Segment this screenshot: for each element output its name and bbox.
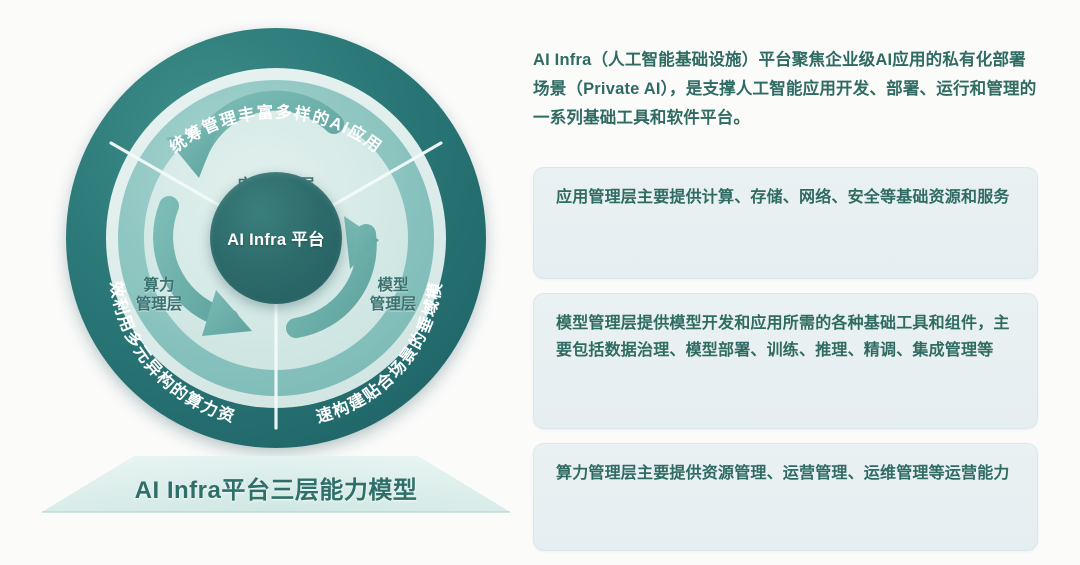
intro-paragraph: AI Infra（人工智能基础设施）平台聚焦企业级AI应用的私有化部署场景（Pr… — [533, 46, 1038, 133]
layer-label-model-line1: 模型 — [338, 276, 448, 295]
layer-label-compute-line2: 管理层 — [104, 295, 214, 314]
platform-title: AI Infra平台三层能力模型 — [42, 470, 510, 505]
model-layer-card-text: 模型管理层提供模型开发和应用所需的各种基础工具和组件，主要包括数据治理、模型部署… — [556, 310, 1017, 365]
three-layer-capability-diagram: 统筹管理丰富多样的AI应用 高效利用多元异构的算力资源 快速构建贴合场景的垂域模… — [48, 18, 513, 533]
layer-label-compute-line1: 算力 — [104, 276, 214, 295]
layer-label-compute: 算力 管理层 — [104, 276, 214, 315]
infographic-stage: 统筹管理丰富多样的AI应用 高效利用多元异构的算力资源 快速构建贴合场景的垂域模… — [0, 0, 1080, 551]
core-label: AI Infra 平台 — [227, 226, 325, 250]
platform-base: AI Infra平台三层能力模型 — [42, 448, 510, 526]
ring-text-top: 统筹管理丰富多样的AI应用 — [165, 101, 385, 156]
layer-label-model: 模型 管理层 — [338, 276, 448, 315]
compute-layer-card: 算力管理层主要提供资源管理、运营管理、运维管理等运营能力 — [533, 443, 1038, 551]
layer-label-model-line2: 管理层 — [338, 295, 448, 314]
core-circle: AI Infra 平台 — [210, 172, 342, 304]
concentric-ring-group: 统筹管理丰富多样的AI应用 高效利用多元异构的算力资源 快速构建贴合场景的垂域模… — [66, 28, 486, 448]
app-layer-card-text: 应用管理层主要提供计算、存储、网络、安全等基础资源和服务 — [556, 184, 1017, 212]
model-layer-card: 模型管理层提供模型开发和应用所需的各种基础工具和组件，主要包括数据治理、模型部署… — [533, 293, 1038, 429]
compute-layer-card-text: 算力管理层主要提供资源管理、运营管理、运维管理等运营能力 — [556, 460, 1017, 488]
description-column: AI Infra（人工智能基础设施）平台聚焦企业级AI应用的私有化部署场景（Pr… — [533, 46, 1038, 565]
app-layer-card: 应用管理层主要提供计算、存储、网络、安全等基础资源和服务 — [533, 167, 1038, 279]
